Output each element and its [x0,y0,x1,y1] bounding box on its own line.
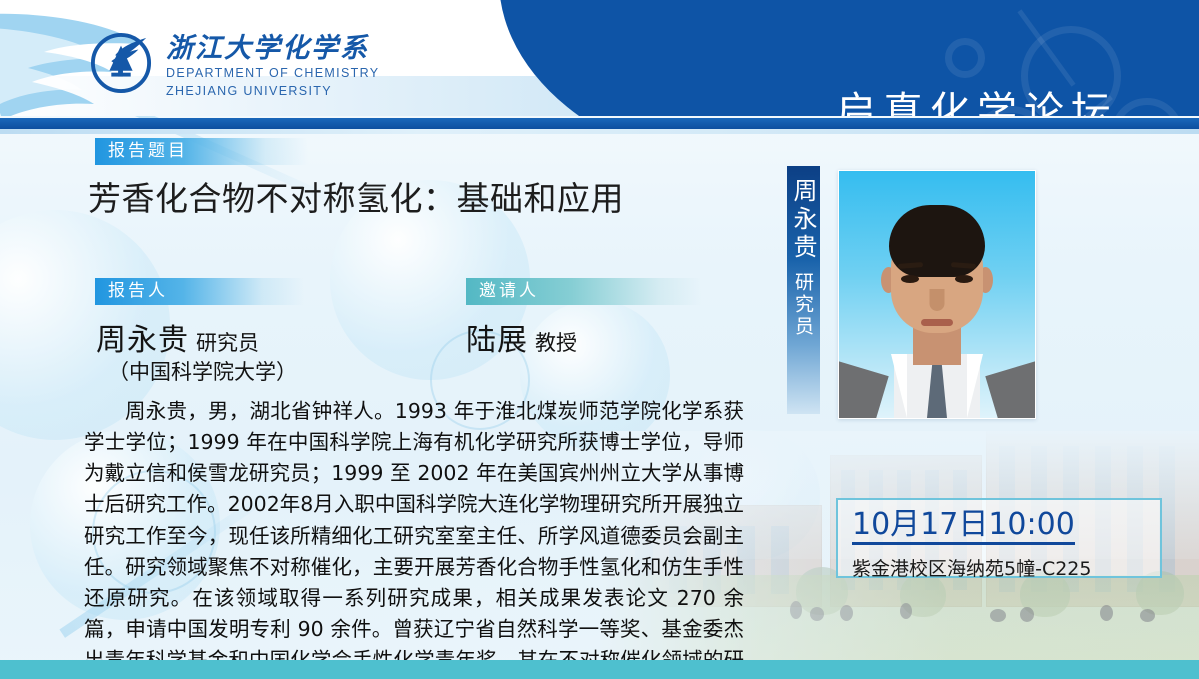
speaker-name: 周永贵 [96,323,189,358]
molecule-icon [945,38,985,78]
person-silhouette [990,609,1006,622]
event-datetime-box: 10月17日10:00 紫金港校区海纳苑5幢-C225 [836,498,1162,578]
inviter-title: 教授 [535,331,577,355]
person-silhouette [840,605,853,621]
zju-eagle-logo-icon [90,32,152,94]
speaker-tag: 报告人 [95,278,304,305]
speaker-name-block: 周永贵研究员 [96,315,259,359]
footer-bar [0,660,1199,679]
department-logo-block: 浙江大学化学系 DEPARTMENT OF CHEMISTRY ZHEJIANG… [90,32,379,101]
header-divider-rule [0,118,1199,129]
main-content: 报告题目 芳香化合物不对称氢化：基础和应用 报告人 邀请人 周永贵研究员 陆展教… [0,134,790,614]
vertical-speaker-name: 周永贵 [786,178,821,262]
talk-title: 芳香化合物不对称氢化：基础和应用 [88,178,778,219]
poster-header: 启真化学论坛 QIZHEN CHEMISTRY FORUM 浙江大学化学系 DE… [0,0,1199,116]
portrait-collar-left [891,354,907,418]
poster-root: 启真化学论坛 QIZHEN CHEMISTRY FORUM 浙江大学化学系 DE… [0,0,1199,679]
forum-title-block: 启真化学论坛 QIZHEN CHEMISTRY FORUM [819,92,1135,116]
logo-title-en-line2: ZHEJIANG UNIVERSITY [166,82,379,101]
event-datetime: 10月17日10:00 [852,508,1075,545]
person-silhouette [810,607,824,621]
person-silhouette [790,601,802,619]
speaker-vertical-nameplate: 周永贵 研究员 [787,166,820,414]
person-silhouette [1100,605,1113,621]
inviter-tag: 邀请人 [466,278,701,305]
logo-title-en-line1: DEPARTMENT OF CHEMISTRY [166,64,379,83]
inviter-name: 陆展 [466,323,528,358]
event-venue: 紫金港校区海纳苑5幢-C225 [852,554,1160,581]
speaker-biography: 周永贵，男，湖北省钟祥人。1993 年于淮北煤炭师范学院化学系获学士学位；199… [84,396,744,679]
portrait-nose [930,289,945,311]
speaker-title: 研究员 [196,331,259,355]
speaker-organization: （中国科学院大学） [108,356,297,386]
logo-title-cn: 浙江大学化学系 [166,34,379,64]
person-silhouette [900,603,912,619]
talk-title-tag: 报告题目 [95,138,308,165]
person-silhouette [1020,607,1034,622]
portrait-eye-left [901,275,919,283]
portrait-collar-right [967,354,983,418]
logo-text-block: 浙江大学化学系 DEPARTMENT OF CHEMISTRY ZHEJIANG… [166,32,379,101]
forum-title-cn: 启真化学论坛 [819,92,1135,116]
inviter-name-block: 陆展教授 [466,315,577,359]
person-silhouette [1140,609,1155,622]
portrait-mouth [921,319,953,326]
speaker-portrait [838,170,1036,419]
portrait-eye-right [955,275,973,283]
vertical-speaker-role: 研究员 [790,272,817,338]
